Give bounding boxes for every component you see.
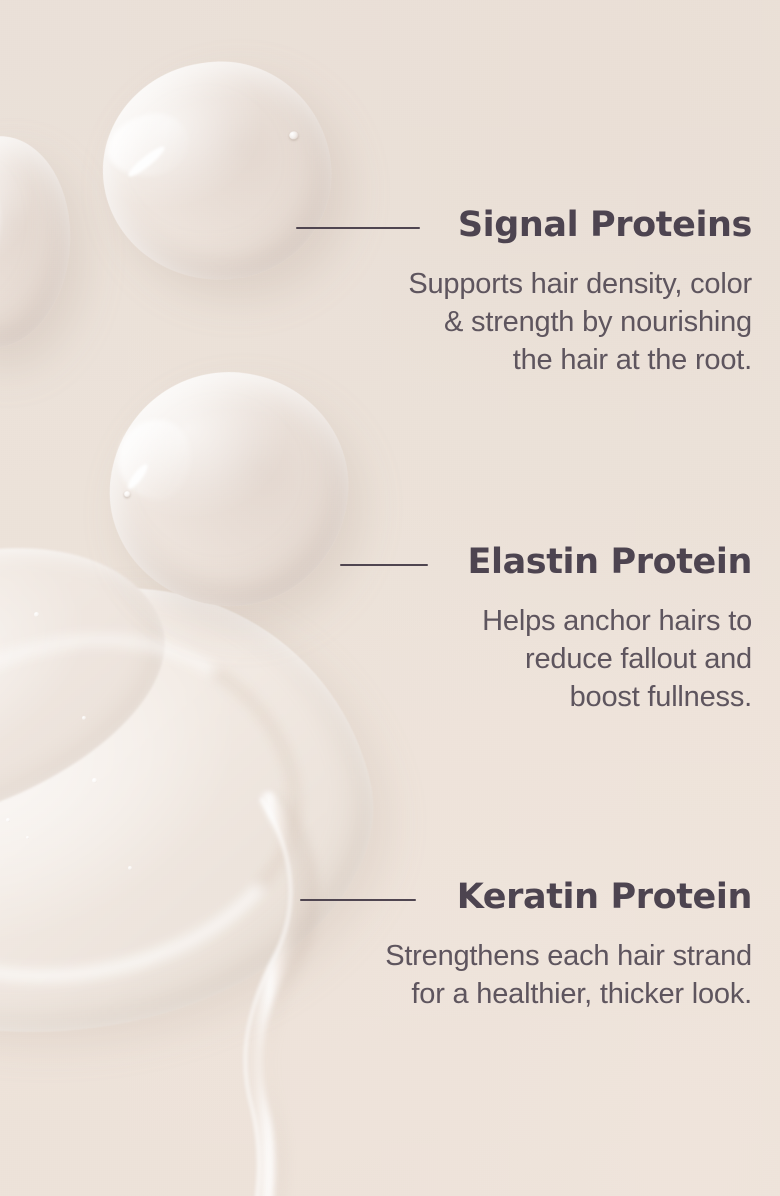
callout-body-keratin: Strengthens each hair strand for a healt… <box>282 937 752 1013</box>
callout-body-line: Strengthens each hair strand <box>385 940 752 972</box>
callout-body-signal: Supports hair density, color & strength … <box>282 265 752 379</box>
infographic-canvas: Signal Proteins Supports hair density, c… <box>0 0 780 1196</box>
callout-body-line: Helps anchor hairs to <box>482 605 752 637</box>
callout-body-line: reduce fallout and <box>525 643 752 675</box>
callout-body-line: & strength by nourishing <box>444 306 752 338</box>
callout-body-line: boost fullness. <box>570 681 752 713</box>
callout-heading-signal: Signal Proteins <box>282 208 752 243</box>
callout-body-elastin: Helps anchor hairs to reduce fallout and… <box>282 602 752 716</box>
callout-body-line: Supports hair density, color <box>408 268 752 300</box>
callout-heading-keratin: Keratin Protein <box>282 880 752 915</box>
callout-elastin-protein: Elastin Protein Helps anchor hairs to re… <box>282 545 752 716</box>
callout-heading-elastin: Elastin Protein <box>282 545 752 580</box>
callout-keratin-protein: Keratin Protein Strengthens each hair st… <box>282 880 752 1013</box>
callout-signal-proteins: Signal Proteins Supports hair density, c… <box>282 208 752 379</box>
callout-body-line: the hair at the root. <box>513 344 752 376</box>
callout-body-line: for a healthier, thicker look. <box>411 978 752 1010</box>
